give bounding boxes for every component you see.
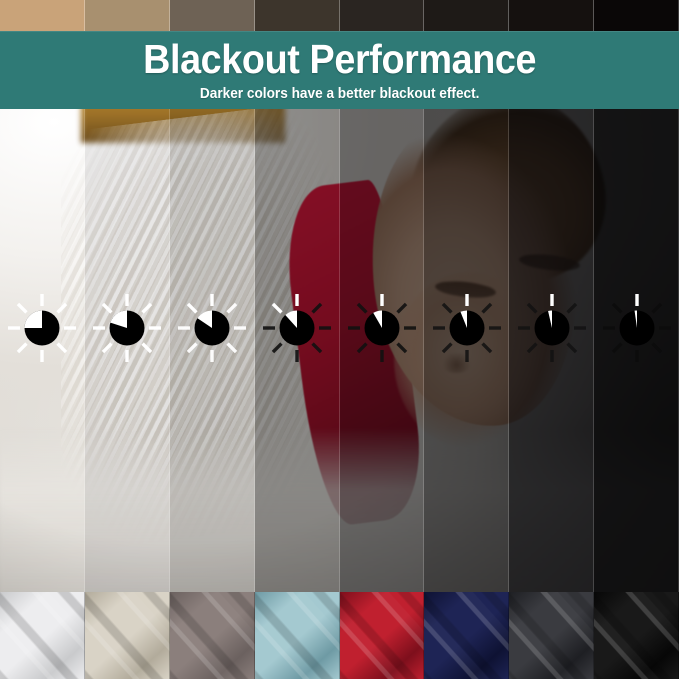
fabric-swatch-red[interactable]: [340, 592, 425, 679]
fabric-swatch-navy[interactable]: [424, 592, 509, 679]
fabric-swatch-dark-gray[interactable]: [509, 592, 594, 679]
fabric-fold-shadow: [509, 592, 594, 679]
top-swatch-deep-black: [509, 0, 594, 31]
headline-banner: Blackout Performance Darker colors have …: [0, 31, 679, 109]
fabric-swatch-white[interactable]: [0, 592, 85, 679]
top-swatch-near-black: [424, 0, 509, 31]
top-swatch-warm-taupe: [85, 0, 170, 31]
fabric-fold-shadow: [85, 592, 170, 679]
fabric-swatch-black[interactable]: [594, 592, 679, 679]
fabric-fold-shadow: [255, 592, 340, 679]
fabric-swatch-taupe-gray[interactable]: [170, 592, 255, 679]
top-color-swatch-strip: [0, 0, 679, 31]
fabric-fold-shadow: [170, 592, 255, 679]
fabric-swatch-light-teal[interactable]: [255, 592, 340, 679]
top-swatch-gray-brown: [170, 0, 255, 31]
fabric-fold-shadow: [340, 592, 425, 679]
top-swatch-tan: [0, 0, 85, 31]
page-subtitle: Darker colors have a better blackout eff…: [200, 87, 480, 102]
product-infographic: Blackout Performance Darker colors have …: [0, 0, 679, 679]
fabric-fold-shadow: [0, 592, 85, 679]
fabric-swatch-cream[interactable]: [85, 592, 170, 679]
top-swatch-black: [594, 0, 679, 31]
top-swatch-charcoal: [340, 0, 425, 31]
page-title: Blackout Performance: [143, 39, 536, 80]
fabric-fold-shadow: [424, 592, 509, 679]
bottom-fabric-swatch-strip: [0, 592, 679, 679]
fabric-fold-shadow: [594, 592, 679, 679]
top-swatch-dark-brown: [255, 0, 340, 31]
